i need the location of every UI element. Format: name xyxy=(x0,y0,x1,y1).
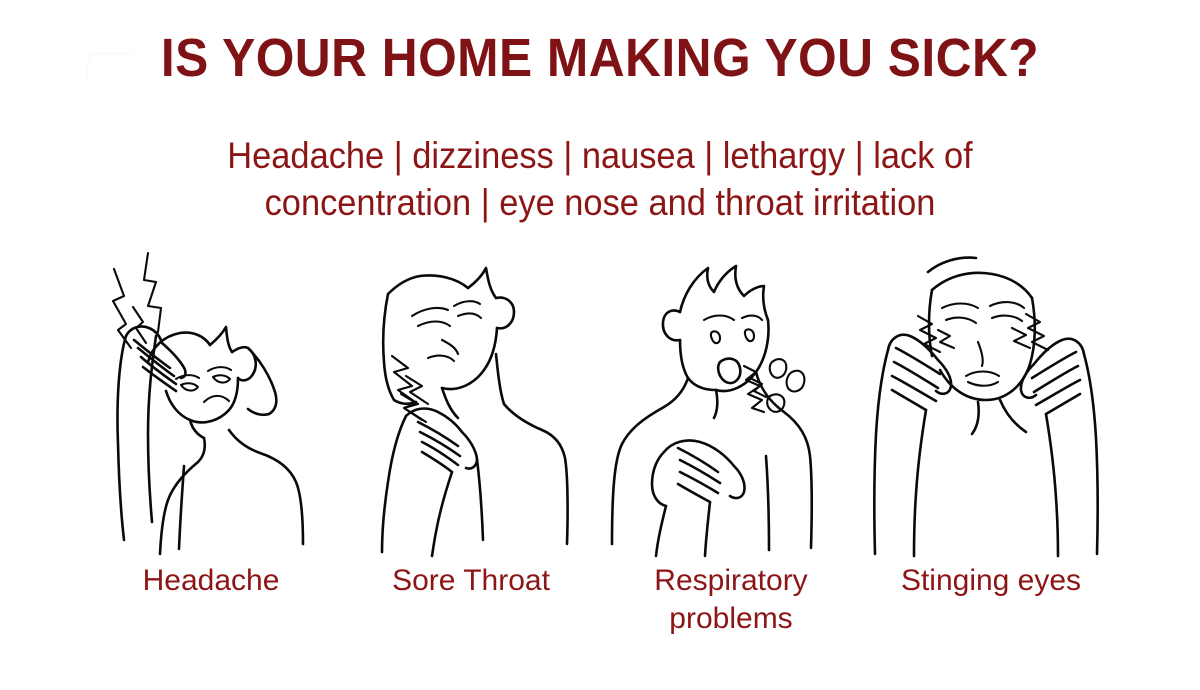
caption-headache-line-1: Headache xyxy=(86,562,336,600)
symptom-list-line-2: concentration | eye nose and throat irri… xyxy=(135,179,1065,226)
person-coughing-chest-icon xyxy=(606,244,856,564)
caption-headache: Headache xyxy=(86,562,336,600)
figure-sore-throat xyxy=(346,244,596,564)
caption-sore-throat-line-1: Sore Throat xyxy=(346,562,596,600)
figure-headache xyxy=(86,244,336,564)
caption-respiratory-line-1: Respiratory xyxy=(606,562,856,600)
figure-stinging-eyes xyxy=(866,244,1116,564)
symptom-list-line-1: Headache | dizziness | nausea | lethargy… xyxy=(135,132,1065,179)
slide-canvas: IS YOUR HOME MAKING YOU SICK? Headache |… xyxy=(0,0,1200,690)
caption-stinging-eyes-line-1: Stinging eyes xyxy=(866,562,1116,600)
caption-sore-throat: Sore Throat xyxy=(346,562,596,600)
illustration-row xyxy=(86,244,1116,564)
caption-row: Headache Sore Throat Respiratory problem… xyxy=(86,562,1116,672)
symptom-list: Headache | dizziness | nausea | lethargy… xyxy=(135,132,1065,226)
caption-stinging-eyes: Stinging eyes xyxy=(866,562,1116,600)
caption-respiratory: Respiratory problems xyxy=(606,562,856,638)
caption-respiratory-line-2: problems xyxy=(606,600,856,638)
person-holding-throat-icon xyxy=(346,244,596,564)
person-rubbing-eyes-icon xyxy=(866,244,1116,564)
person-holding-head-icon xyxy=(86,244,336,564)
figure-respiratory xyxy=(606,244,856,564)
page-title: IS YOUR HOME MAKING YOU SICK? xyxy=(48,28,1152,88)
